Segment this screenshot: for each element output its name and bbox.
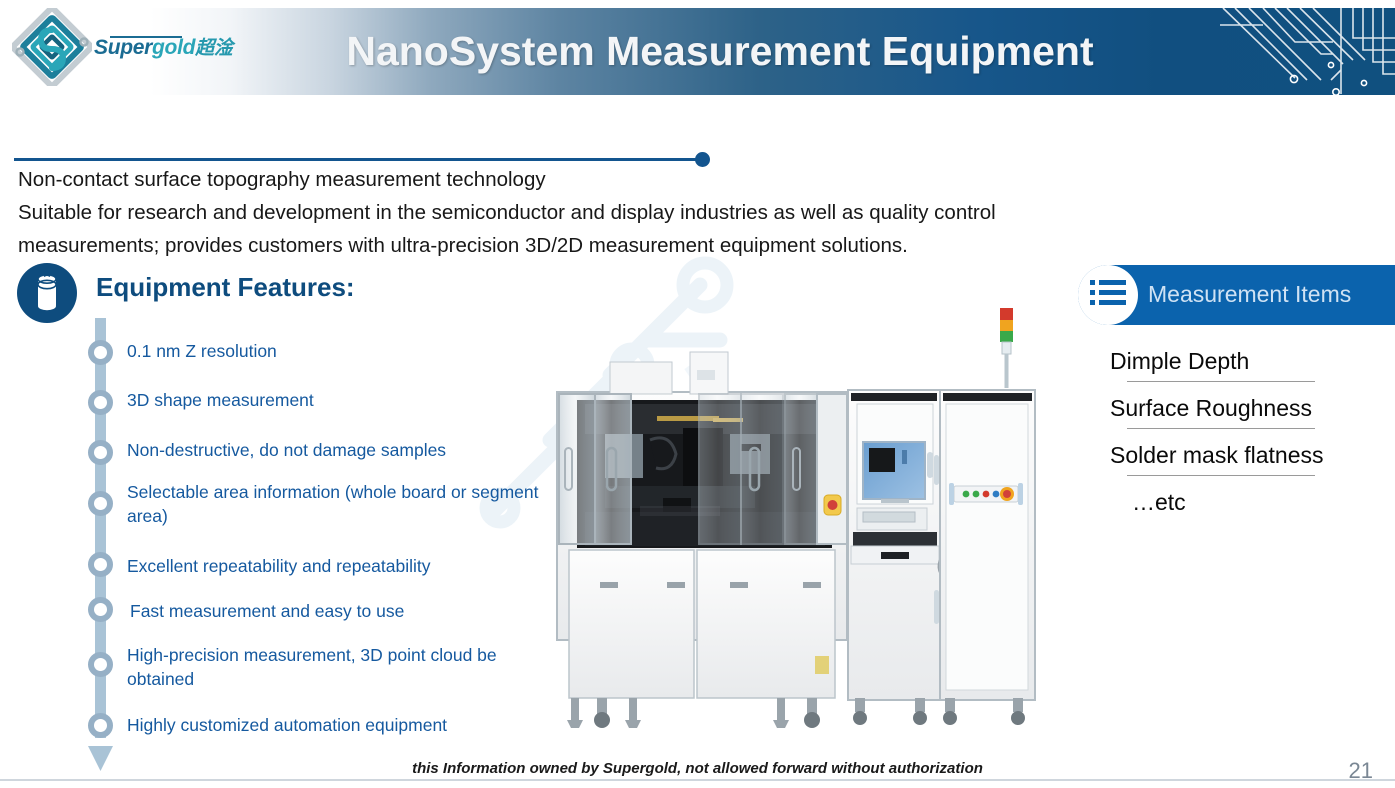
feature-item-label: Excellent repeatability and repeatabilit… bbox=[127, 556, 431, 576]
equipment-features-heading: Equipment Features: bbox=[96, 272, 355, 303]
feature-item: Fast measurement and easy to use bbox=[130, 599, 560, 623]
timeline-bullet bbox=[88, 340, 113, 365]
supergold-spiral-diamond-logo-icon bbox=[12, 8, 92, 86]
feature-item: Highly customized automation equipment bbox=[127, 713, 557, 737]
footer-divider bbox=[0, 779, 1395, 781]
machine-monitor bbox=[863, 442, 933, 503]
feature-item-label: Selectable area information (whole board… bbox=[127, 482, 538, 526]
emergency-stop-button bbox=[824, 495, 841, 515]
page-title: NanoSystem Measurement Equipment bbox=[270, 20, 1170, 82]
feature-item: High-precision measurement, 3D point clo… bbox=[127, 643, 517, 691]
subtitle-line-1: Non-contact surface topography measureme… bbox=[18, 163, 1278, 196]
measurement-items-list: Dimple Depth Surface Roughness Solder ma… bbox=[1110, 345, 1390, 533]
logo-text-gold: gold bbox=[152, 36, 195, 59]
subtitle-line-2: Suitable for research and development in… bbox=[18, 196, 1278, 229]
nanosystem-measurement-machine-photo bbox=[545, 300, 1050, 740]
subtitle-block: Non-contact surface topography measureme… bbox=[18, 163, 1278, 262]
feature-item-label: 3D shape measurement bbox=[127, 390, 314, 410]
measurement-item: Dimple Depth bbox=[1110, 345, 1390, 377]
timeline-bullet bbox=[88, 597, 113, 622]
features-timeline bbox=[88, 318, 112, 773]
measurement-item: Solder mask flatness bbox=[1110, 439, 1390, 471]
bullet-list-icon bbox=[1090, 279, 1126, 310]
feature-item: Excellent repeatability and repeatabilit… bbox=[127, 554, 557, 578]
measurement-item-label: Solder mask flatness bbox=[1110, 442, 1323, 468]
logo-underline bbox=[110, 36, 182, 38]
measurement-items-title: Measurement Items bbox=[1148, 272, 1351, 316]
feature-item: Non-destructive, do not damage samples bbox=[127, 438, 557, 462]
feature-item: 0.1 nm Z resolution bbox=[127, 339, 557, 363]
measurement-item-label: Dimple Depth bbox=[1110, 348, 1249, 374]
subtitle-line-3: measurements; provides customers with ul… bbox=[18, 229, 1278, 262]
feature-item: Selectable area information (whole board… bbox=[127, 480, 547, 528]
feature-item-label: Non-destructive, do not damage samples bbox=[127, 440, 446, 460]
timeline-bullet bbox=[88, 440, 113, 465]
measurement-item-label: Surface Roughness bbox=[1110, 395, 1312, 421]
timeline-bullet bbox=[88, 713, 113, 738]
timeline-bullet bbox=[88, 652, 113, 677]
slide-nanosystem-measurement-equipment: Supergold超淦 NanoSystem Measurement Equip… bbox=[0, 0, 1395, 788]
operator-control-panel bbox=[949, 483, 1023, 505]
feature-item-label: Fast measurement and easy to use bbox=[130, 601, 404, 621]
timeline-bullet bbox=[88, 390, 113, 415]
feature-item-label: High-precision measurement, 3D point clo… bbox=[127, 645, 497, 689]
logo-text-chinese: 超淦 bbox=[195, 38, 232, 59]
signal-tower-light bbox=[1000, 308, 1013, 388]
footer-confidentiality-note: this Information owned by Supergold, not… bbox=[0, 760, 1395, 777]
logo-wordmark: Supergold超淦 bbox=[94, 37, 233, 58]
measurement-item: Surface Roughness bbox=[1110, 392, 1390, 424]
feature-item: 3D shape measurement bbox=[127, 388, 557, 412]
measurement-item-etc: …etc bbox=[1110, 486, 1390, 518]
timeline-bullet bbox=[88, 491, 113, 516]
subtitle-divider-rule bbox=[14, 158, 702, 161]
keyboard-tray bbox=[851, 508, 939, 564]
feature-item-label: Highly customized automation equipment bbox=[127, 715, 447, 735]
cylinder-database-icon bbox=[17, 263, 77, 323]
timeline-bullet bbox=[88, 552, 113, 577]
page-number: 21 bbox=[1349, 758, 1373, 784]
supergold-logo: Supergold超淦 bbox=[12, 6, 237, 88]
logo-text-super: Super bbox=[94, 36, 152, 59]
feature-item-label: 0.1 nm Z resolution bbox=[127, 341, 277, 361]
